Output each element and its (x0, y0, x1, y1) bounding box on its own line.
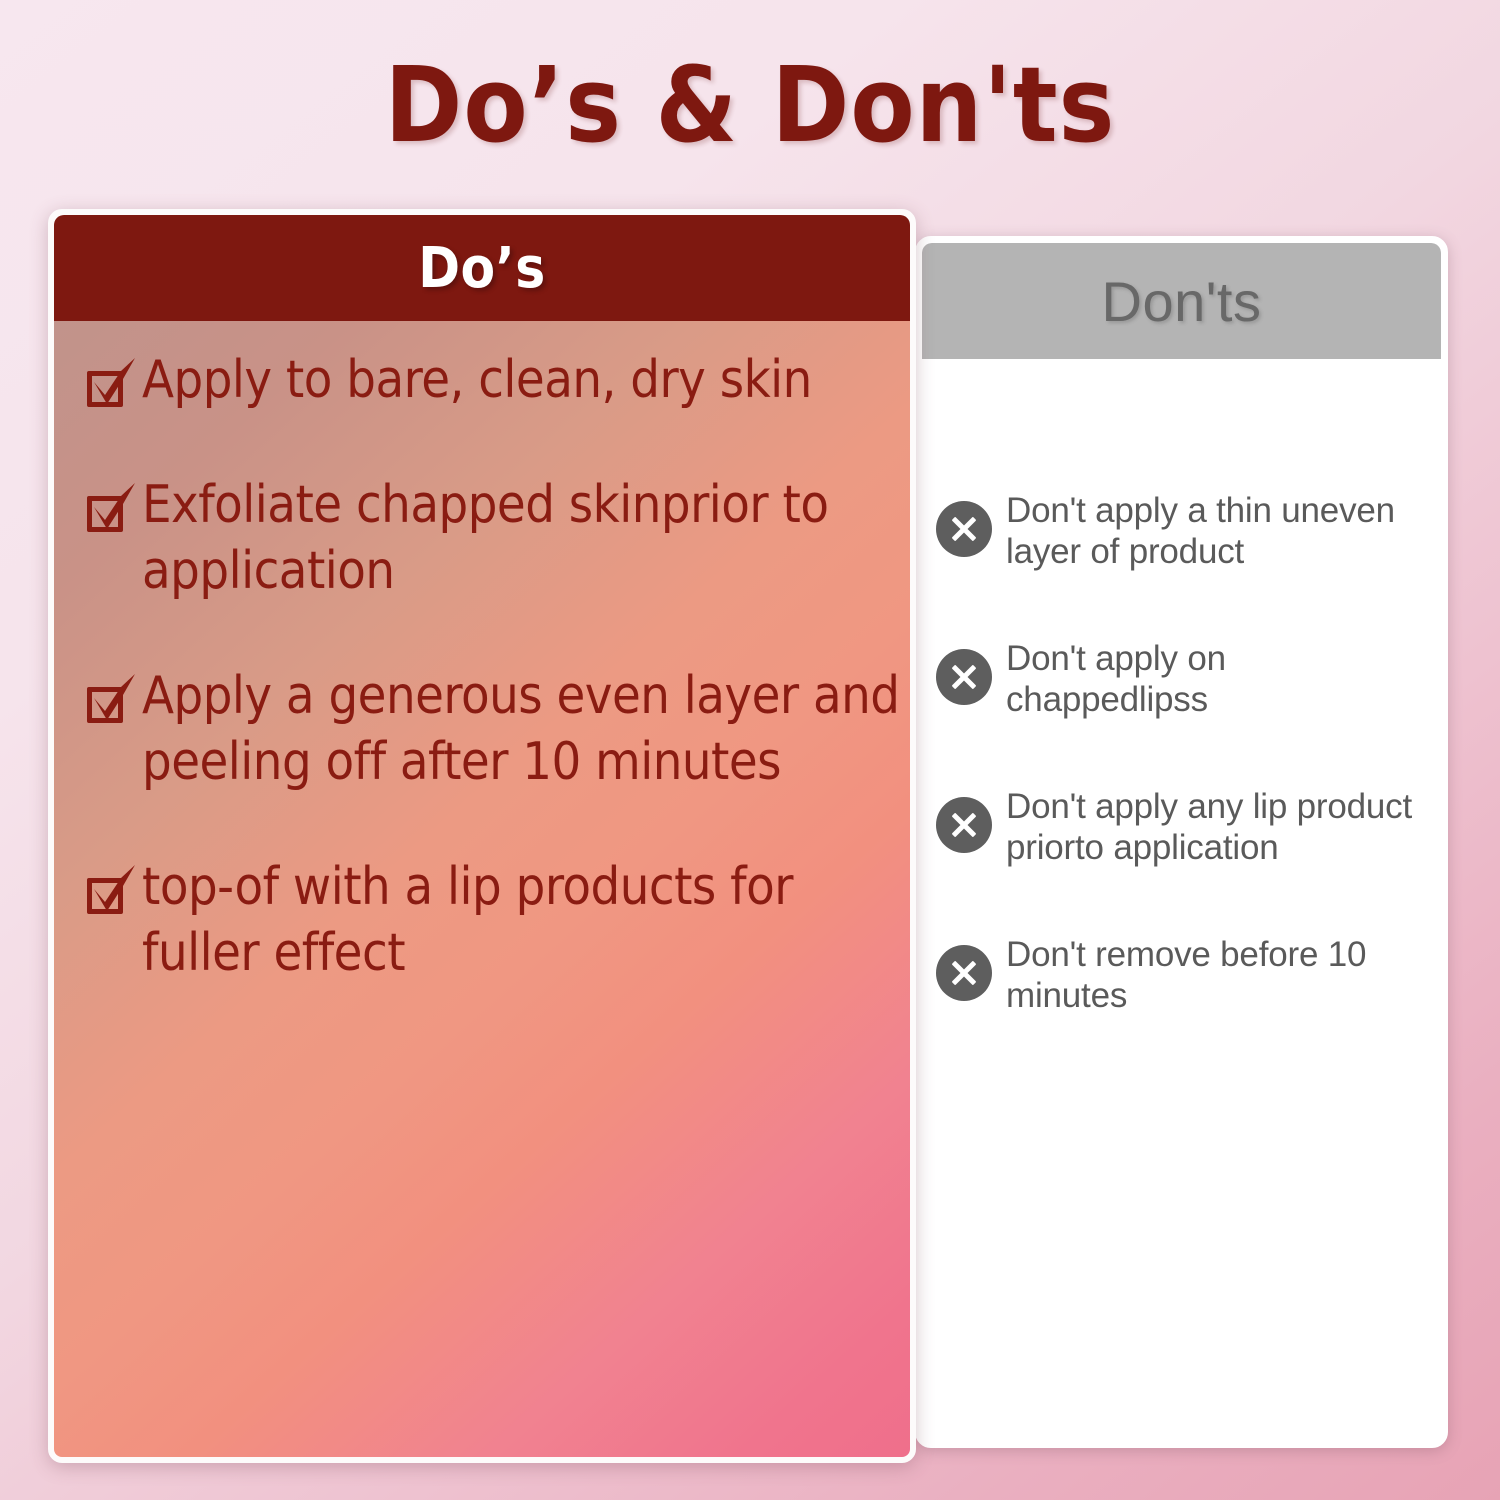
checkbox-check-icon (84, 677, 136, 729)
list-item: Apply to bare, clean, dry skin (84, 347, 902, 414)
dont-item-label: Don't remove before 10 minutes (1006, 935, 1436, 1017)
dont-item-label: Don't apply on chappedlipss (1006, 639, 1436, 721)
donts-header: Don'ts (922, 243, 1441, 359)
circle-x-icon (936, 797, 992, 853)
dont-item-label: Don't apply a thin uneven layer of produ… (1006, 491, 1436, 573)
list-item: Don't apply on chappedlipss (936, 639, 1436, 721)
checkbox-check-icon (84, 361, 136, 413)
list-item: Apply a generous even layer and peeling … (84, 663, 902, 796)
list-item: Don't apply a thin uneven layer of produ… (936, 491, 1436, 573)
do-item-label: Apply a generous even layer and peeling … (142, 663, 902, 796)
dont-item-label: Don't apply any lip product priorto appl… (1006, 787, 1436, 869)
donts-list: Don't apply a thin uneven layer of produ… (936, 491, 1436, 1083)
circle-x-icon (936, 945, 992, 1001)
list-item: Exfoliate chapped skinprior to applicati… (84, 472, 902, 605)
do-item-label: top-of with a lip products for fuller ef… (142, 854, 902, 987)
dos-card: Do’s Apply to bare, clean, dry skin (48, 209, 916, 1463)
dos-header: Do’s (54, 215, 910, 321)
dos-header-label: Do’s (418, 236, 546, 301)
circle-x-icon (936, 649, 992, 705)
dos-list: Apply to bare, clean, dry skin Exfoliate… (84, 347, 902, 1045)
checkbox-check-icon (84, 868, 136, 920)
donts-card: Don'ts Don't apply a thin uneven layer o… (915, 236, 1448, 1448)
list-item: Don't apply any lip product priorto appl… (936, 787, 1436, 869)
infographic-page: Do’s & Don'ts Don'ts Don't apply a thin … (0, 0, 1500, 1500)
list-item: top-of with a lip products for fuller ef… (84, 854, 902, 987)
checkbox-check-icon (84, 486, 136, 538)
list-item: Don't remove before 10 minutes (936, 935, 1436, 1017)
do-item-label: Exfoliate chapped skinprior to applicati… (142, 472, 902, 605)
page-title: Do’s & Don'ts (0, 48, 1500, 162)
do-item-label: Apply to bare, clean, dry skin (142, 347, 812, 414)
circle-x-icon (936, 501, 992, 557)
donts-header-label: Don'ts (1102, 269, 1262, 334)
